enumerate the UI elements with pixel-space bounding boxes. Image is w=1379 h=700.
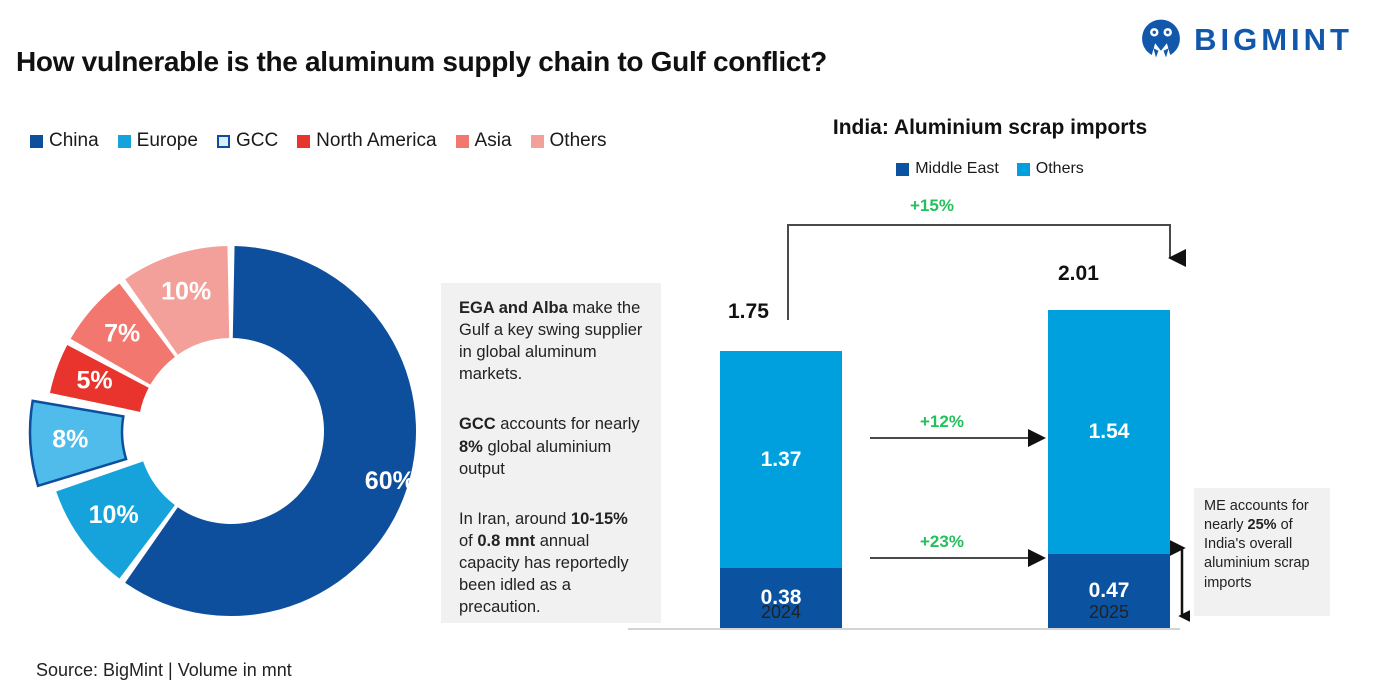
donut-label-asia: 7%	[104, 320, 140, 348]
x-axis-line	[628, 628, 1180, 630]
x-tick-2025: 2025	[1048, 602, 1170, 623]
legend-swatch-middle-east	[896, 163, 909, 176]
legend-label-others: Others	[550, 130, 607, 152]
legend-swatch-asia	[456, 135, 469, 148]
legend-label-gcc: GCC	[236, 130, 278, 152]
donut-legend: China Europe GCC North America Asia Othe…	[30, 130, 607, 152]
donut-chart: 60%10%8%5%7%10%	[22, 222, 440, 640]
legend-item-asia[interactable]: Asia	[456, 130, 512, 152]
legend-item-china[interactable]: China	[30, 130, 99, 152]
bar-segment-2024-others[interactable]: 1.37	[720, 351, 842, 568]
bar-value-2025-others: 1.54	[1089, 420, 1130, 444]
infographic-page: BIGMINT How vulnerable is the aluminum s…	[0, 0, 1379, 700]
legend-label-china: China	[49, 130, 99, 152]
source-note: Source: BigMint | Volume in mnt	[36, 660, 292, 681]
legend-swatch-gcc	[217, 135, 230, 148]
bar-segment-2025-others[interactable]: 1.54	[1048, 310, 1170, 554]
legend-item-europe[interactable]: Europe	[118, 130, 198, 152]
legend-item-north-america[interactable]: North America	[297, 130, 436, 152]
donut-label-europe: 10%	[89, 501, 139, 529]
legend-swatch-others	[531, 135, 544, 148]
donut-label-gcc: 8%	[52, 426, 88, 454]
donut-chart-svg: 60%10%8%5%7%10%	[22, 222, 440, 640]
legend-item-middle-east[interactable]: Middle East	[896, 160, 999, 178]
donut-label-north-america: 5%	[77, 366, 113, 394]
legend-swatch-china	[30, 135, 43, 148]
legend-label-bar-others: Others	[1036, 160, 1084, 178]
bar-value-2024-others: 1.37	[761, 448, 802, 472]
growth-label-others: +12%	[920, 412, 964, 432]
page-title: How vulnerable is the aluminum supply ch…	[16, 46, 827, 78]
bar-value-2025-middle-east: 0.47	[1089, 579, 1130, 603]
legend-item-gcc[interactable]: GCC	[217, 130, 278, 152]
brand-wordmark: BIGMINT	[1194, 24, 1353, 55]
donut-label-others: 10%	[161, 278, 211, 306]
insight-paragraph-1: EGA and Alba make the Gulf a key swing s…	[459, 297, 643, 385]
legend-item-others[interactable]: Others	[531, 130, 607, 152]
bar-column-2024[interactable]: 1.37 0.38	[720, 351, 842, 628]
legend-swatch-north-america	[297, 135, 310, 148]
donut-label-china: 60%	[365, 467, 415, 495]
legend-label-europe: Europe	[137, 130, 198, 152]
x-tick-2024: 2024	[720, 602, 842, 623]
growth-label-middle-east: +23%	[920, 532, 964, 552]
legend-swatch-bar-others	[1017, 163, 1030, 176]
brand-logo: BIGMINT	[1140, 18, 1353, 60]
bar-column-2025[interactable]: 1.54 0.47	[1048, 310, 1170, 628]
me-share-note-box: ME accounts for nearly 25% of India's ov…	[1194, 488, 1330, 616]
growth-label-total: +15%	[910, 196, 954, 216]
stacked-bar-plot: 1.37 0.38 1.75 2024 1.54 0.47 2.01 2025 …	[620, 190, 1190, 630]
bar-chart-legend: Middle East Others	[800, 160, 1180, 178]
legend-label-middle-east: Middle East	[915, 160, 999, 178]
bar-chart-title: India: Aluminium scrap imports	[800, 116, 1180, 140]
bar-total-2025: 2.01	[1058, 262, 1099, 286]
bigmint-logo-icon	[1140, 18, 1182, 60]
legend-swatch-europe	[118, 135, 131, 148]
legend-label-asia: Asia	[475, 130, 512, 152]
legend-label-north-america: North America	[316, 130, 436, 152]
insight-paragraph-3: In Iran, around 10-15% of 0.8 mnt annual…	[459, 508, 643, 619]
legend-item-bar-others[interactable]: Others	[1017, 160, 1084, 178]
insight-paragraph-2: GCC accounts for nearly 8% global alumin…	[459, 413, 643, 479]
bar-total-2024: 1.75	[728, 300, 769, 324]
